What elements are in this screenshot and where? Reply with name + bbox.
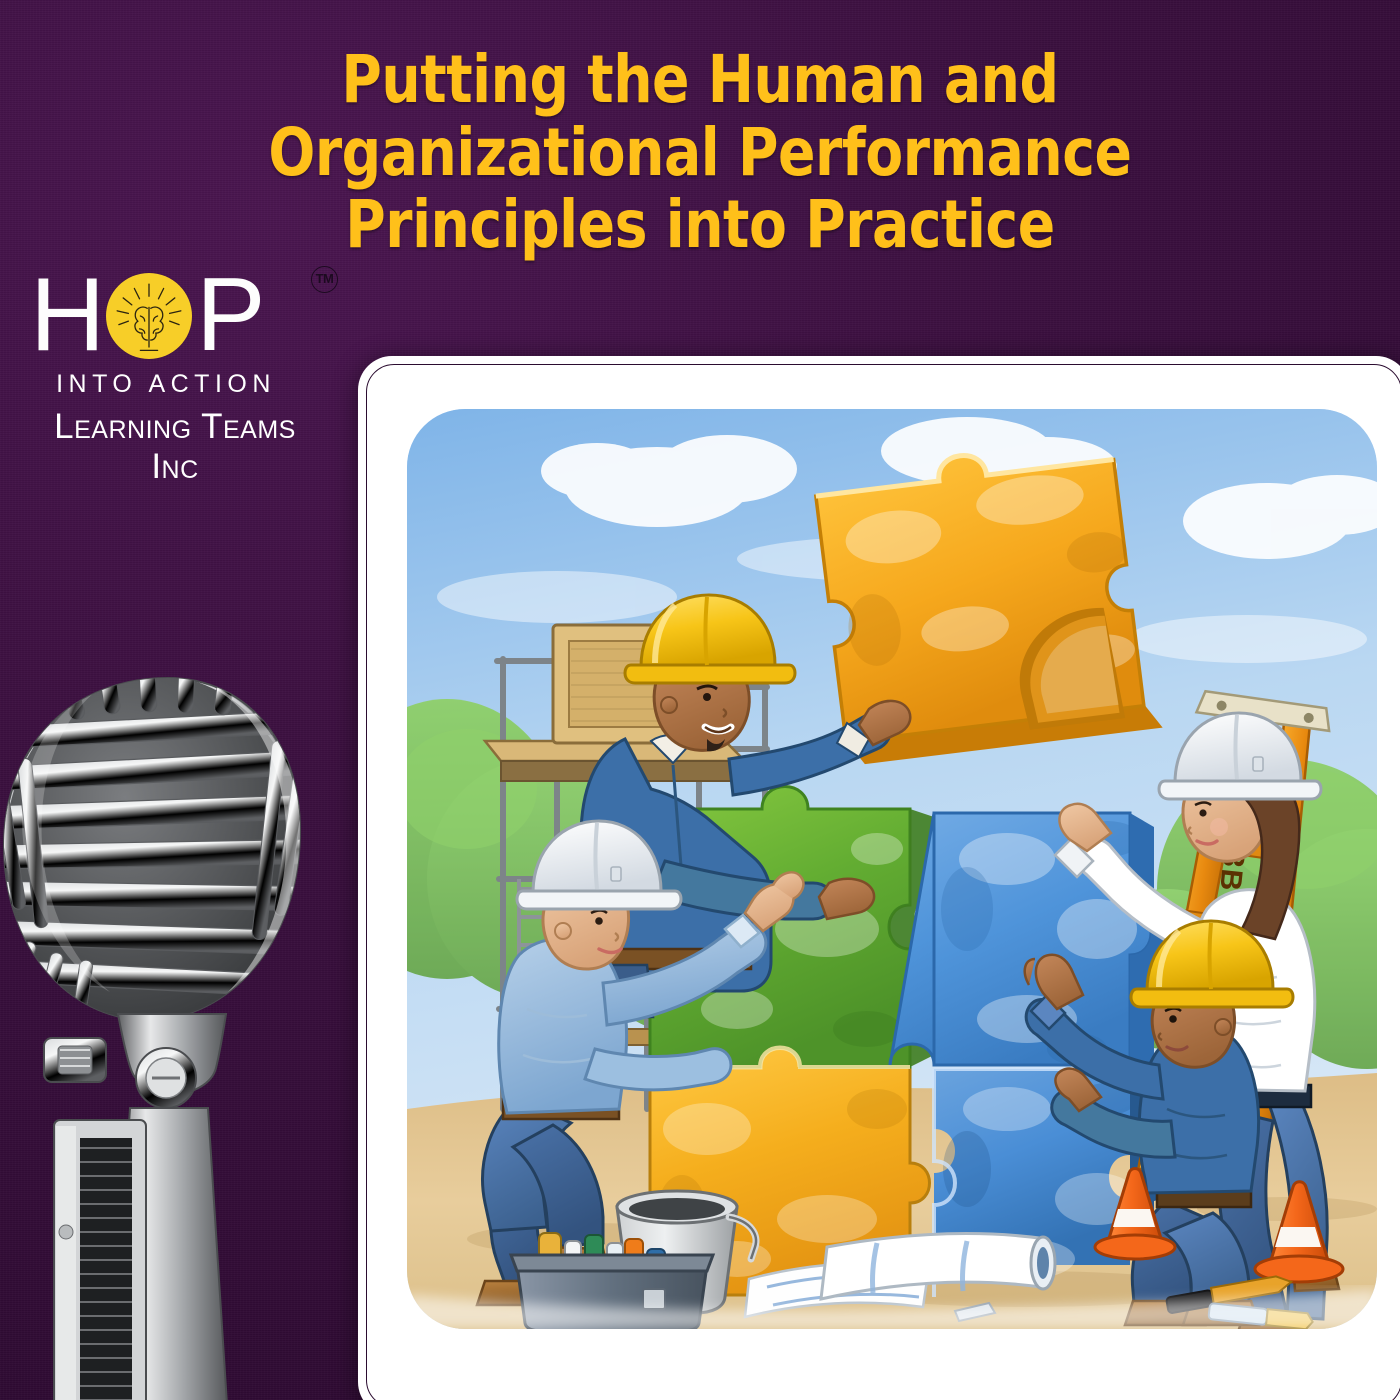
page-title: Putting the Human and Organizational Per… [49, 44, 1351, 262]
trademark-label: TM [316, 271, 334, 286]
logo-letter-h: H [30, 269, 103, 363]
brand-logo: H [30, 268, 330, 487]
illustration-frame: S3BGTE' CREER [358, 356, 1400, 1400]
trademark-icon: TM [311, 266, 338, 293]
construction-team-assembling-puzzle-illustration: S3BGTE' CREER [407, 409, 1377, 1329]
page-title-line-1: Putting the Human and Organizational Per… [268, 41, 1131, 191]
vintage-microphone-icon [0, 640, 350, 1400]
lightbulb-brain-icon [106, 273, 192, 359]
illustration-frame-inner-border: S3BGTE' CREER [366, 364, 1400, 1400]
logo-wordmark: H [30, 268, 330, 364]
page-title-line-2: Principles into Practice [114, 189, 1286, 262]
logo-company-name: Learning Teams Inc [30, 407, 320, 487]
logo-letter-p: P [196, 269, 263, 363]
logo-tagline: INTO ACTION [30, 370, 302, 399]
